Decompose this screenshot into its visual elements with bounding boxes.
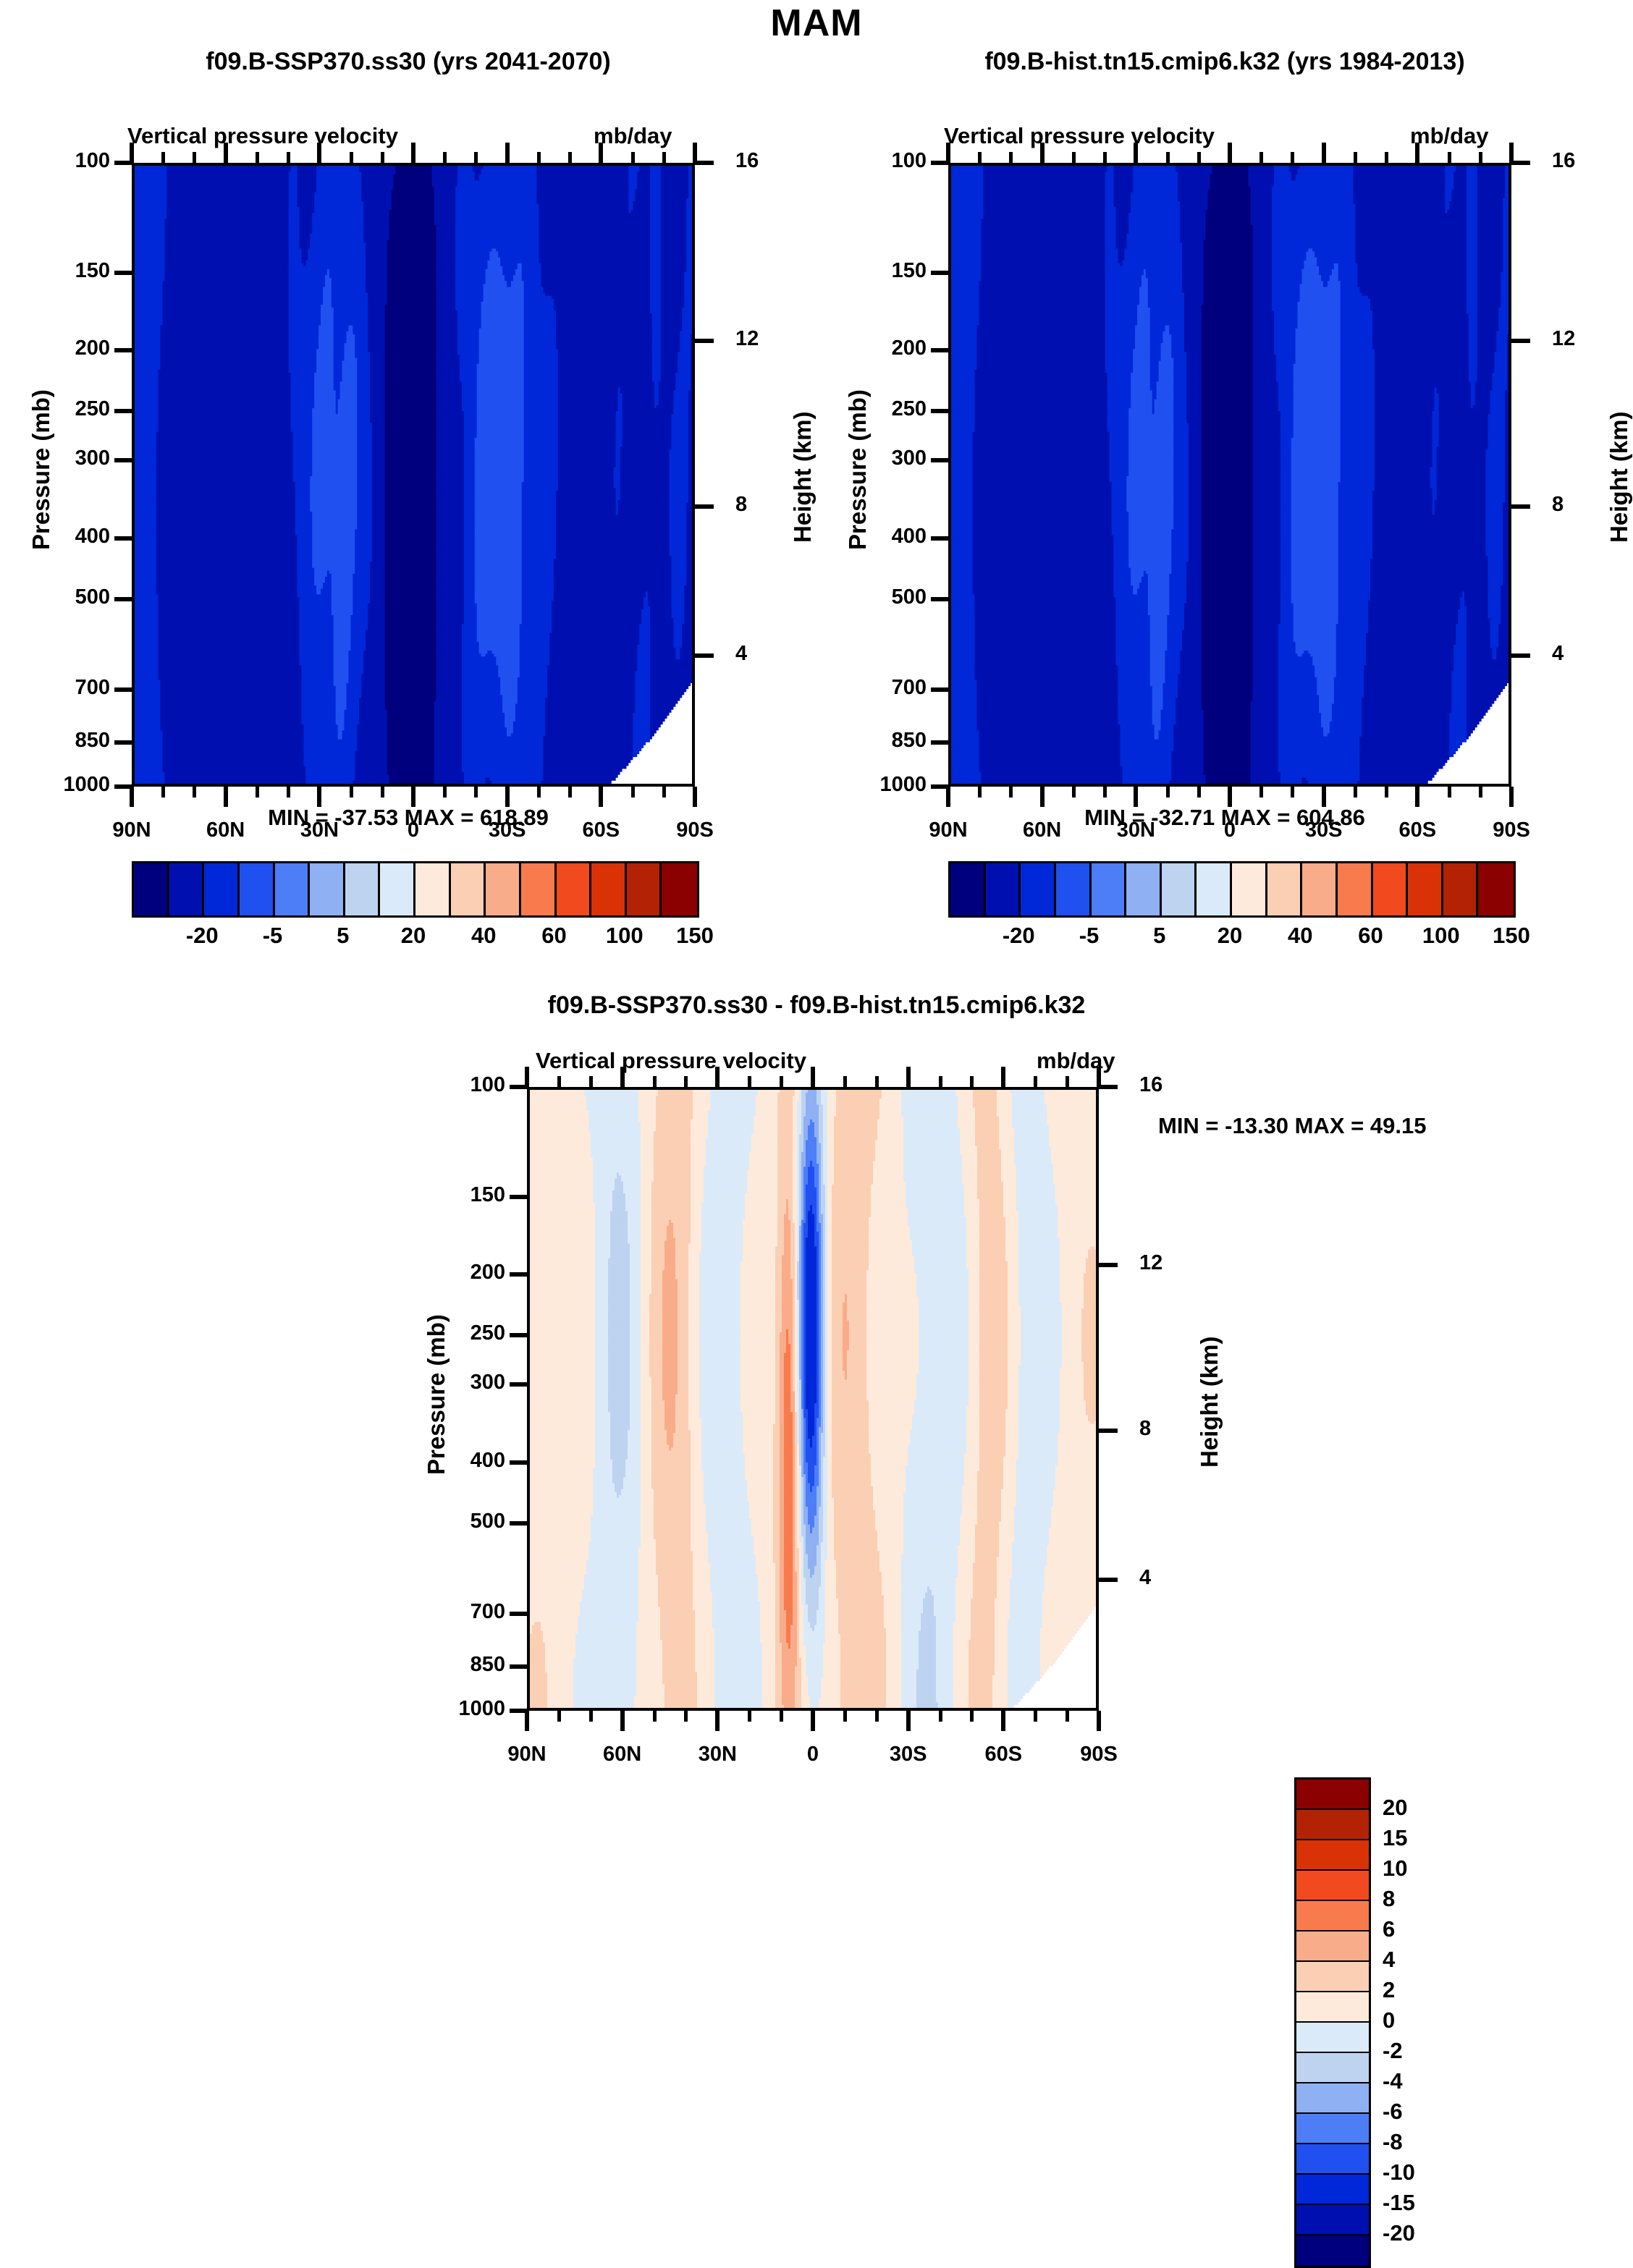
height-tick [1511,161,1530,165]
lat-tick-minor [1354,787,1357,797]
lat-tick-top-major [906,1067,911,1087]
lat-tick-major [317,787,321,807]
height-tick [1099,1263,1118,1267]
lat-tick-label: 60N [603,1743,641,1766]
pressure-tick [931,740,948,745]
lat-tick-top-minor [537,152,541,163]
lat-tick-minor [381,787,384,797]
lat-tick-top-minor [1009,152,1013,163]
lat-tick-top-major [1097,1067,1101,1087]
colorbar-cell [240,863,275,915]
height-tick-label: 12 [735,327,759,351]
pressure-tick-label: 400 [892,525,927,549]
colorbar-cell [1296,2175,1369,2205]
colorbar-cell [134,863,169,915]
height-tick-label: 16 [1139,1073,1162,1097]
pressure-tick [510,1382,527,1387]
panel-top-left-ylabel: Pressure (mb) [28,389,55,550]
colorbar-tick-label: -20 [1383,2220,1415,2246]
colorbar-tick-label: 20 [401,923,426,949]
lat-tick-top-minor [939,1076,942,1087]
colorbar-tick-label: 15 [1383,1825,1407,1851]
colorbar-cell [1092,863,1127,915]
pressure-tick [931,271,948,275]
colorbar-tick-label: 60 [541,923,566,949]
height-tick-label: 4 [1552,642,1564,666]
lat-tick-top-minor [1354,152,1357,163]
lat-tick-minor [256,787,259,797]
lat-tick-minor [557,1711,561,1722]
pressure-tick-label: 100 [471,1073,505,1097]
colorbar-top-right[interactable] [948,861,1516,918]
colorbar-cell [1296,1871,1369,1901]
pressure-tick [114,458,132,462]
lat-tick-minor [1259,787,1263,797]
pressure-tick [114,687,132,692]
lat-tick-top-major [525,1067,529,1087]
panel-top-right-units: mb/day [1410,123,1489,149]
colorbar-cell [310,863,345,915]
pressure-tick-label: 100 [892,149,927,173]
lat-tick-minor [684,1711,688,1722]
lat-tick-top-minor [474,152,478,163]
colorbar-cell [950,863,986,915]
lat-tick-minor [1166,787,1170,797]
panel-difference-units: mb/day [1037,1048,1115,1074]
height-tick-label: 4 [735,642,747,666]
lat-tick-minor [1034,1711,1037,1722]
lat-tick-label: 30N [699,1743,737,1766]
panel-difference-ylabel: Pressure (mb) [423,1314,450,1475]
colorbar-cell [1443,863,1479,915]
pressure-tick [931,409,948,413]
pressure-tick-label: 850 [471,1653,505,1677]
lat-tick-minor [939,1711,942,1722]
pressure-tick-label: 150 [892,259,927,283]
panel-difference-minmax: MIN = -13.30 MAX = 49.15 [1158,1113,1607,1139]
colorbar-cell [662,863,697,915]
colorbar-tick-label: 0 [1383,2007,1395,2034]
lat-tick-top-major [411,143,415,163]
lat-tick-top-minor [1291,152,1294,163]
lat-tick-major [1097,1711,1101,1731]
pressure-tick [931,597,948,601]
colorbar-tick-label: 150 [1493,923,1530,949]
panel-difference-y2label: Height (km) [1196,1337,1223,1468]
colorbar-tick-label: 5 [337,923,349,949]
lat-tick-major [505,787,510,807]
lat-tick-top-minor [780,1076,783,1087]
pressure-tick-label: 400 [471,1449,505,1473]
colorbar-cell [1296,1901,1369,1931]
colorbar-cell [1232,863,1267,915]
panel-top-right-title: f09.B-hist.tn15.cmip6.k32 (yrs 1984-2013… [816,48,1633,76]
pressure-tick [114,348,132,352]
pressure-tick [510,1272,527,1277]
lat-tick-top-major [224,143,228,163]
colorbar-cell [1478,863,1514,915]
lat-tick-minor [1385,787,1388,797]
contour-field-difference [530,1090,1099,1711]
colorbar-tick-label: -10 [1383,2159,1415,2186]
lat-tick-top-minor [256,152,259,163]
lat-tick-major [715,1711,720,1731]
colorbar-cell [1296,1840,1369,1871]
height-tick [1511,653,1530,658]
lat-tick-minor [631,787,635,797]
panel-top-left-title: f09.B-SSP370.ss30 (yrs 2041-2070) [0,48,816,76]
pressure-tick-label: 500 [75,585,110,609]
colorbar-cell [451,863,486,915]
lat-tick-top-minor [568,152,572,163]
pressure-tick-label: 200 [471,1261,505,1285]
lat-tick-top-major [946,143,950,163]
lat-tick-minor [537,787,541,797]
lat-tick-minor [978,787,982,797]
pressure-tick [510,1333,527,1337]
panel-top-right-variable: Vertical pressure velocity [944,123,1215,149]
lat-tick-minor [443,787,447,797]
lat-tick-major [1415,787,1419,807]
colorbar-tick-label: 5 [1153,923,1165,949]
lat-tick-top-major [1040,143,1045,163]
colorbar-cell [275,863,311,915]
pressure-tick [931,348,948,352]
height-tick [1511,504,1530,509]
panel-top-right-y2label: Height (km) [1605,412,1633,543]
colorbar-tick-label: 40 [471,923,496,949]
lat-tick-top-minor [1034,1076,1037,1087]
panel-top-left-minmax: MIN = -37.53 MAX = 618.89 [0,805,816,831]
lat-tick-top-major [1322,143,1326,163]
lat-tick-major [1001,1711,1005,1731]
pressure-tick [510,1612,527,1616]
colorbar-tick-label: -5 [1079,923,1100,949]
colorbar-cell [1408,863,1443,915]
colorbar-cell [1021,863,1056,915]
colorbar-tick-label: -6 [1383,2099,1403,2125]
panel-top-left-units: mb/day [594,123,672,149]
lat-tick-minor [589,1711,593,1722]
lat-tick-minor [1197,787,1201,797]
colorbar-cell [557,863,592,915]
pressure-tick-label: 200 [892,337,927,360]
colorbar-tick-label: -5 [263,923,283,949]
colorbar-tick-label: 20 [1383,1795,1407,1821]
height-tick-label: 12 [1552,327,1575,351]
colorbar-tick-label: -15 [1383,2190,1415,2216]
colorbar-cell [1126,863,1162,915]
colorbar-cell [1267,863,1303,915]
lat-tick-top-major [620,1067,625,1087]
lat-tick-minor [843,1711,847,1722]
lat-tick-major [1040,787,1045,807]
lat-tick-major [525,1711,529,1731]
colorbar-tick-label: -2 [1383,2038,1403,2064]
lat-tick-top-major [1509,143,1514,163]
colorbar-top-left-labels: -20-55204060100150 [132,923,695,952]
colorbar-cell [1296,1992,1369,2023]
lat-tick-minor [287,787,290,797]
colorbar-cell [1056,863,1092,915]
pressure-tick-label: 1000 [879,773,927,797]
pressure-tick-label: 500 [471,1510,505,1533]
pressure-tick-label: 300 [892,447,927,470]
height-tick-label: 16 [1552,149,1575,173]
lat-tick-top-minor [381,152,384,163]
panel-difference-variable: Vertical pressure velocity [536,1048,806,1074]
colorbar-tick-label: 100 [606,923,644,949]
pressure-tick [114,597,132,601]
pressure-tick-label: 400 [75,525,110,549]
lat-tick-top-major [1134,143,1138,163]
lat-tick-top-minor [1259,152,1263,163]
lat-tick-minor [474,787,478,797]
colorbar-cell [1296,2023,1369,2053]
lat-tick-minor [1448,787,1451,797]
lat-tick-top-minor [978,152,982,163]
lat-tick-minor [780,1711,783,1722]
colorbar-cell [1296,1810,1369,1840]
panel-top-right-minmax: MIN = -32.71 MAX = 604.86 [816,805,1633,831]
lat-tick-top-minor [875,1076,879,1087]
pressure-tick [510,1521,527,1526]
panel-top-right: f09.B-hist.tn15.cmip6.k32 (yrs 1984-2013… [816,43,1633,977]
colorbar-cell [1162,863,1197,915]
lat-tick-top-minor [970,1076,974,1087]
lat-tick-label: 30S [890,1743,927,1766]
height-tick [695,339,714,343]
lat-tick-minor [970,1711,974,1722]
lat-tick-top-minor [631,152,635,163]
colorbar-cell [1296,2083,1369,2114]
lat-tick-top-minor [161,152,165,163]
lat-tick-top-minor [843,1076,847,1087]
lat-tick-top-minor [653,1076,657,1087]
lat-tick-major [599,787,603,807]
figure-title: MAM [0,0,1633,46]
height-tick [1099,1085,1118,1089]
lat-tick-top-major [1001,1067,1005,1087]
colorbar-tick-label: 40 [1288,923,1312,949]
colorbar-tick-label: 2 [1383,1977,1395,2003]
lat-tick-major [946,787,950,807]
height-tick [695,161,714,165]
panel-top-left-plot[interactable] [132,163,695,787]
colorbar-tick-label: 8 [1383,1886,1395,1912]
lat-tick-minor [350,787,353,797]
lat-tick-top-major [1415,143,1419,163]
colorbar-cell [204,863,240,915]
colorbar-tick-label: 4 [1383,1947,1395,1973]
lat-tick-minor [568,787,572,797]
lat-tick-minor [1066,1711,1069,1722]
colorbar-cell [415,863,451,915]
pressure-tick-label: 200 [75,337,110,360]
height-tick [1099,1578,1118,1582]
colorbar-tick-label: -4 [1383,2068,1403,2094]
lat-tick-top-major [505,143,510,163]
colorbar-tick-label: -8 [1383,2129,1403,2155]
panel-top-left-variable: Vertical pressure velocity [127,123,398,149]
lat-tick-top-minor [557,1076,561,1087]
colorbar-cell [1197,863,1232,915]
lat-tick-minor [653,1711,657,1722]
lat-tick-major [906,1711,911,1731]
lat-tick-top-minor [1103,152,1107,163]
pressure-tick [931,536,948,541]
colorbar-tick-label: 100 [1422,923,1460,949]
colorbar-cell [986,863,1021,915]
pressure-tick [510,1460,527,1465]
lat-tick-top-major [317,143,321,163]
colorbar-cell [169,863,205,915]
lat-tick-minor [1103,787,1107,797]
lat-tick-top-minor [589,1076,593,1087]
lat-tick-top-major [715,1067,720,1087]
lat-tick-major [811,1711,815,1731]
lat-tick-minor [1479,787,1482,797]
panel-top-left-y2label: Height (km) [789,412,816,543]
colorbar-cell [1296,1962,1369,1992]
lat-tick-minor [1009,787,1013,797]
pressure-tick-label: 700 [892,676,927,700]
height-tick-label: 8 [1552,493,1564,517]
panel-top-right-plot[interactable] [948,163,1511,787]
pressure-tick [114,271,132,275]
colorbar-cell [345,863,381,915]
pressure-tick-label: 250 [892,397,927,421]
lat-tick-minor [193,787,196,797]
height-tick [695,653,714,658]
pressure-tick-label: 100 [75,149,110,173]
colorbar-top-left[interactable] [132,861,699,918]
pressure-tick [510,1664,527,1669]
colorbar-cell [1296,2235,1369,2266]
height-tick-label: 8 [1139,1417,1151,1441]
pressure-tick [114,740,132,745]
pressure-tick-label: 150 [75,259,110,283]
colorbar-cell [1296,2114,1369,2144]
colorbar-tick-label: -20 [186,923,219,949]
lat-tick-top-minor [1066,1076,1069,1087]
pressure-tick-label: 850 [75,729,110,753]
lat-tick-minor [161,787,165,797]
colorbar-cell [1296,2053,1369,2083]
colorbar-cell [1296,1780,1369,1810]
lat-tick-label: 90N [507,1743,546,1766]
height-tick-label: 8 [735,493,747,517]
pressure-tick-label: 1000 [458,1697,505,1721]
lat-tick-major [130,787,134,807]
lat-tick-top-minor [1197,152,1201,163]
colorbar-tick-label: 10 [1383,1856,1407,1882]
height-tick [1099,1429,1118,1433]
lat-tick-major [1134,787,1138,807]
lat-tick-top-major [130,143,134,163]
colorbar-difference[interactable] [1294,1777,1371,2268]
pressure-tick-label: 500 [892,585,927,609]
lat-tick-top-minor [1166,152,1170,163]
pressure-tick-label: 150 [471,1183,505,1207]
lat-tick-major [411,787,415,807]
colorbar-tick-label: 60 [1358,923,1383,949]
pressure-tick-label: 250 [471,1321,505,1345]
lat-tick-top-minor [1448,152,1451,163]
panel-difference: f09.B-SSP370.ss30 - f09.B-hist.tn15.cmip… [0,991,1633,1725]
colorbar-tick-label: 6 [1383,1916,1395,1942]
lat-tick-major [1509,787,1514,807]
lat-tick-top-major [811,1067,815,1087]
colorbar-cell [1296,2144,1369,2175]
pressure-tick [931,458,948,462]
lat-tick-top-minor [684,1076,688,1087]
pressure-tick [114,409,132,413]
lat-tick-major [620,1711,625,1731]
lat-tick-label: 0 [807,1743,819,1766]
height-tick-label: 12 [1139,1251,1162,1275]
lat-tick-top-minor [1479,152,1482,163]
lat-tick-top-minor [748,1076,751,1087]
colorbar-cell [486,863,521,915]
colorbar-cell [1296,2205,1369,2235]
colorbar-top-right-labels: -20-55204060100150 [948,923,1511,952]
pressure-tick-label: 700 [471,1600,505,1624]
pressure-tick-label: 850 [892,729,927,753]
colorbar-cell [591,863,627,915]
lat-tick-top-minor [1072,152,1076,163]
lat-tick-label: 60S [985,1743,1023,1766]
lat-tick-top-minor [193,152,196,163]
pressure-tick-label: 1000 [63,773,110,797]
pressure-tick [931,687,948,692]
lat-tick-major [1322,787,1326,807]
panel-top-right-ylabel: Pressure (mb) [844,389,872,550]
lat-tick-major [1228,787,1232,807]
lat-tick-major [693,787,697,807]
colorbar-cell [627,863,662,915]
lat-tick-minor [1072,787,1076,797]
pressure-tick-label: 300 [471,1371,505,1395]
colorbar-cell [1302,863,1338,915]
panel-difference-title: f09.B-SSP370.ss30 - f09.B-hist.tn15.cmip… [0,991,1633,1020]
lat-tick-top-minor [287,152,290,163]
colorbar-cell [1373,863,1409,915]
pressure-tick [114,536,132,541]
lat-tick-label: 90S [1080,1743,1118,1766]
panel-top-left: f09.B-SSP370.ss30 (yrs 2041-2070) Vertic… [0,43,816,977]
lat-tick-top-major [693,143,697,163]
lat-tick-major [224,787,228,807]
height-tick-label: 4 [1139,1566,1151,1590]
contour-field-top-left [135,166,695,787]
colorbar-cell [1296,1931,1369,1962]
colorbar-tick-label: -20 [1003,923,1035,949]
height-tick-label: 16 [735,149,759,173]
colorbar-cell [1338,863,1373,915]
lat-tick-top-major [1228,143,1232,163]
lat-tick-minor [1291,787,1294,797]
height-tick [1511,339,1530,343]
height-tick [695,504,714,509]
lat-tick-minor [875,1711,879,1722]
lat-tick-minor [662,787,666,797]
lat-tick-top-minor [1385,152,1388,163]
contour-field-top-right [951,166,1511,787]
colorbar-cell [521,863,557,915]
panel-difference-plot[interactable] [527,1087,1099,1711]
pressure-tick-label: 250 [75,397,110,421]
